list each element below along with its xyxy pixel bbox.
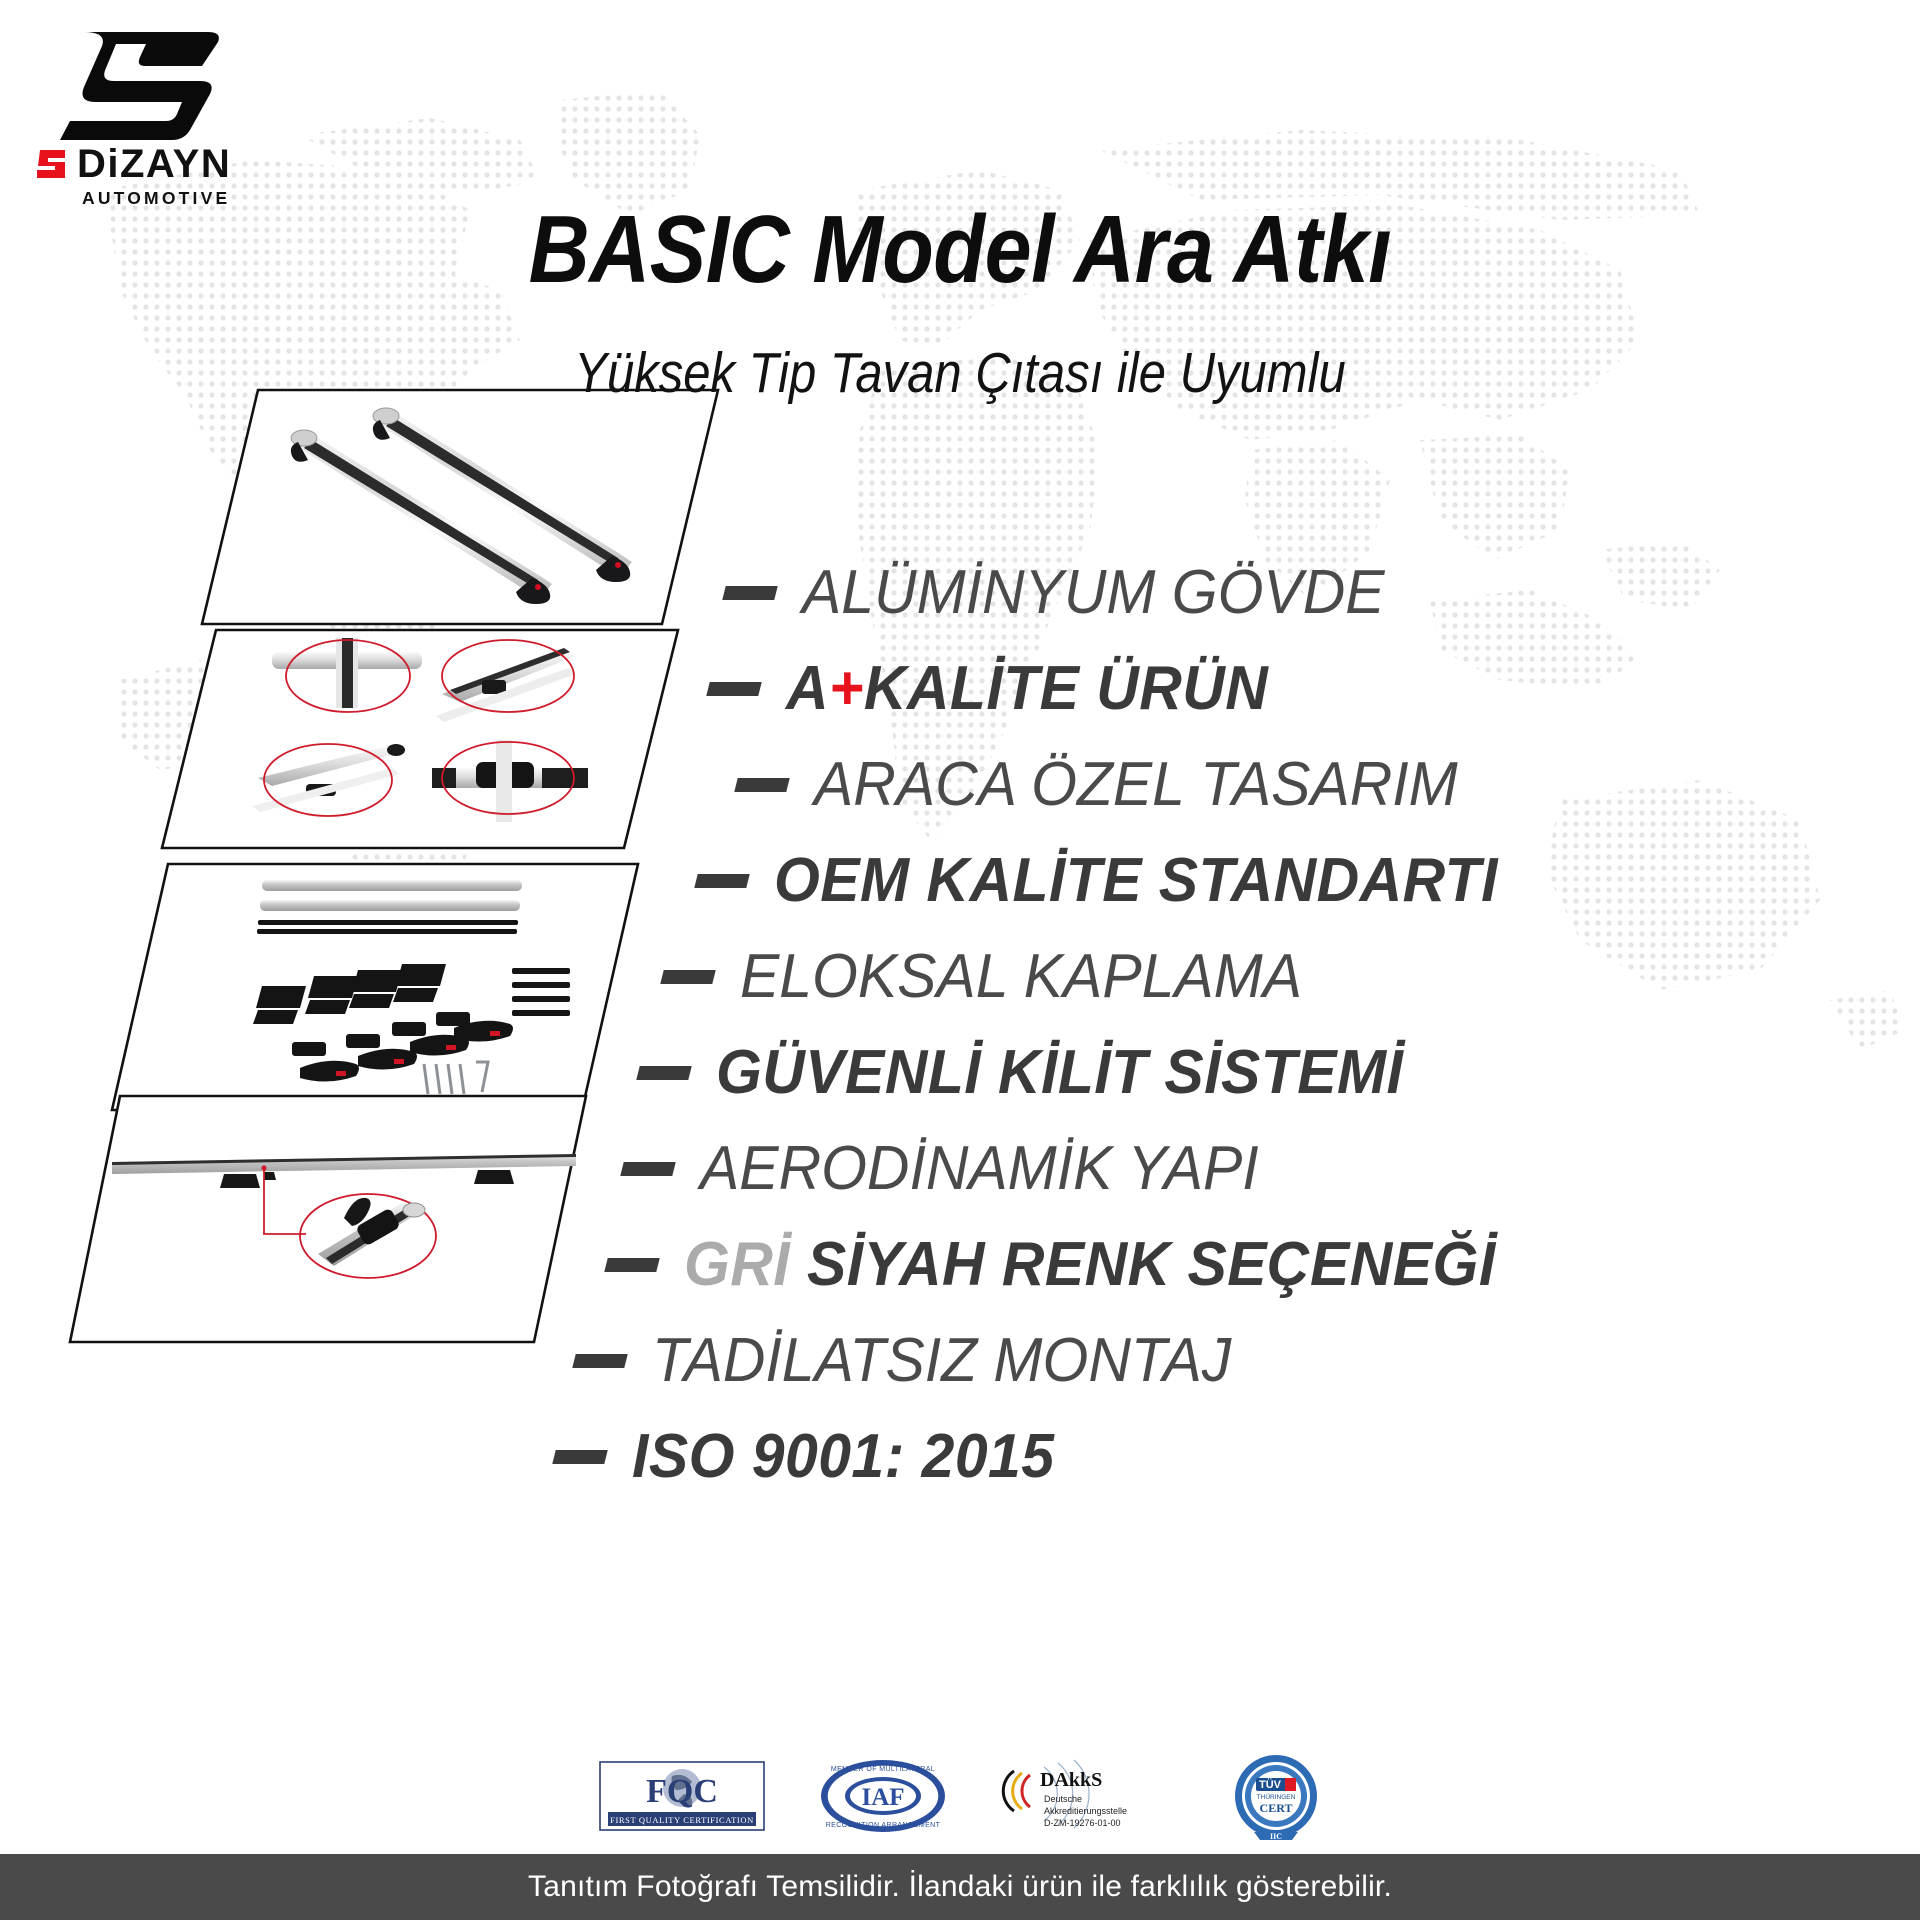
feature-text-part: A xyxy=(786,654,829,723)
dash-bullet-icon xyxy=(620,1162,675,1176)
dash-bullet-icon xyxy=(694,874,749,888)
feature-text-part: GÜVENLİ KİLİT SİSTEMİ xyxy=(716,1038,1403,1107)
feature-item: OEM KALİTE STANDARTI xyxy=(696,833,1920,929)
tuv-sub2: CERT xyxy=(1260,1801,1293,1815)
dash-bullet-icon xyxy=(552,1450,607,1464)
feature-label: ISO 9001: 2015 xyxy=(632,1426,1055,1488)
panel-crossbars-pair[interactable] xyxy=(200,388,720,628)
dash-bullet-icon xyxy=(660,970,715,984)
feature-label: ELOKSAL KAPLAMA xyxy=(740,946,1302,1008)
panel-mounted-on-rail[interactable] xyxy=(68,1094,588,1346)
disclaimer-bar: Tanıtım Fotoğrafı Temsilidir. İlandaki ü… xyxy=(0,1854,1920,1920)
feature-item: AERODİNAMİK YAPI xyxy=(622,1121,1920,1217)
certification-badges: FQC FIRST QUALITY CERTIFICATION IAF MEMB… xyxy=(0,1752,1920,1840)
gri-accent: GRİ xyxy=(684,1230,790,1299)
feature-label: A+KALİTE ÜRÜN xyxy=(786,658,1268,720)
dakks-badge: DAkkS Deutsche Akkreditierungsstelle D-Z… xyxy=(1000,1757,1178,1835)
iaf-bottom: RECOGNITION ARRANGEMENT xyxy=(826,1822,941,1829)
feature-label: OEM KALİTE STANDARTI xyxy=(774,850,1498,912)
s-dizayn-monogram-icon xyxy=(50,24,250,142)
fqc-sub: FIRST QUALITY CERTIFICATION xyxy=(610,1815,754,1825)
feature-label: ARACA ÖZEL TASARIM xyxy=(814,754,1458,816)
dash-bullet-icon xyxy=(636,1066,691,1080)
brand-name: DiZAYN xyxy=(77,144,231,184)
feature-text-part: KALİTE ÜRÜN xyxy=(864,654,1268,723)
panel-kit-components[interactable] xyxy=(110,862,640,1114)
feature-text-part: TADİLATSIZ MONTAJ xyxy=(652,1326,1231,1395)
feature-text-part: ALÜMİNYUM GÖVDE xyxy=(802,558,1385,627)
page-title: BASIC Model Ara Atkı xyxy=(115,195,1805,305)
tuv-label: TÜV xyxy=(1259,1778,1282,1791)
feature-item: GRİ SİYAH RENK SEÇENEĞİ xyxy=(606,1217,1920,1313)
feature-label: AERODİNAMİK YAPI xyxy=(700,1138,1259,1200)
feature-item: ELOKSAL KAPLAMA xyxy=(662,929,1920,1025)
feature-item: ARACA ÖZEL TASARIM xyxy=(736,737,1920,833)
feature-label: ALÜMİNYUM GÖVDE xyxy=(802,562,1385,624)
dakks-line2: Akkreditierungsstelle xyxy=(1044,1806,1127,1816)
tuv-cert-badge: TÜV THÜRINGEN CERT IIC xyxy=(1230,1752,1322,1840)
plus-accent: + xyxy=(829,654,864,723)
feature-list: ALÜMİNYUM GÖVDEA+KALİTE ÜRÜNARACA ÖZEL T… xyxy=(700,545,1920,1505)
feature-text-part: SİYAH RENK SEÇENEĞİ xyxy=(790,1230,1496,1299)
panel-detail-closeups[interactable] xyxy=(160,628,680,852)
feature-text-part: ISO 9001: 2015 xyxy=(632,1422,1055,1491)
feature-label: GRİ SİYAH RENK SEÇENEĞİ xyxy=(684,1234,1496,1296)
dash-bullet-icon xyxy=(604,1258,659,1272)
feature-item: ALÜMİNYUM GÖVDE xyxy=(724,545,1920,641)
feature-item: ISO 9001: 2015 xyxy=(554,1409,1920,1505)
feature-label: TADİLATSIZ MONTAJ xyxy=(652,1330,1231,1392)
dash-bullet-icon xyxy=(734,778,789,792)
dash-bullet-icon xyxy=(706,682,761,696)
feature-text-part: OEM KALİTE STANDARTI xyxy=(774,846,1498,915)
feature-item: GÜVENLİ KİLİT SİSTEMİ xyxy=(638,1025,1920,1121)
dash-bullet-icon xyxy=(722,586,777,600)
page-subtitle: Yüksek Tip Tavan Çıtası ile Uyumlu xyxy=(134,340,1785,406)
dash-bullet-icon xyxy=(572,1354,627,1368)
iaf-top: MEMBER OF MULTILATERAL xyxy=(831,1766,935,1773)
dakks-line3: D-ZM-19276-01-00 xyxy=(1044,1818,1121,1828)
feature-item: TADİLATSIZ MONTAJ xyxy=(574,1313,1920,1409)
fqc-label: FQC xyxy=(646,1773,718,1810)
feature-text-part: AERODİNAMİK YAPI xyxy=(700,1134,1259,1203)
tuv-ribbon: IIC xyxy=(1270,1832,1282,1840)
feature-text-part: ARACA ÖZEL TASARIM xyxy=(814,750,1458,819)
feature-text-part: ELOKSAL KAPLAMA xyxy=(740,942,1302,1011)
iaf-label: IAF xyxy=(861,1784,904,1811)
disclaimer-text: Tanıtım Fotoğrafı Temsilidir. İlandaki ü… xyxy=(528,1870,1392,1904)
feature-label: GÜVENLİ KİLİT SİSTEMİ xyxy=(716,1042,1403,1104)
iaf-badge: IAF MEMBER OF MULTILATERAL RECOGNITION A… xyxy=(818,1757,948,1835)
dakks-label: DAkkS xyxy=(1040,1769,1102,1791)
tuv-sub1: THÜRINGEN xyxy=(1257,1793,1296,1801)
s-red-mark-icon xyxy=(34,147,68,181)
feature-item: A+KALİTE ÜRÜN xyxy=(708,641,1920,737)
fqc-badge: FQC FIRST QUALITY CERTIFICATION xyxy=(598,1760,766,1832)
dakks-line1: Deutsche xyxy=(1044,1794,1082,1804)
